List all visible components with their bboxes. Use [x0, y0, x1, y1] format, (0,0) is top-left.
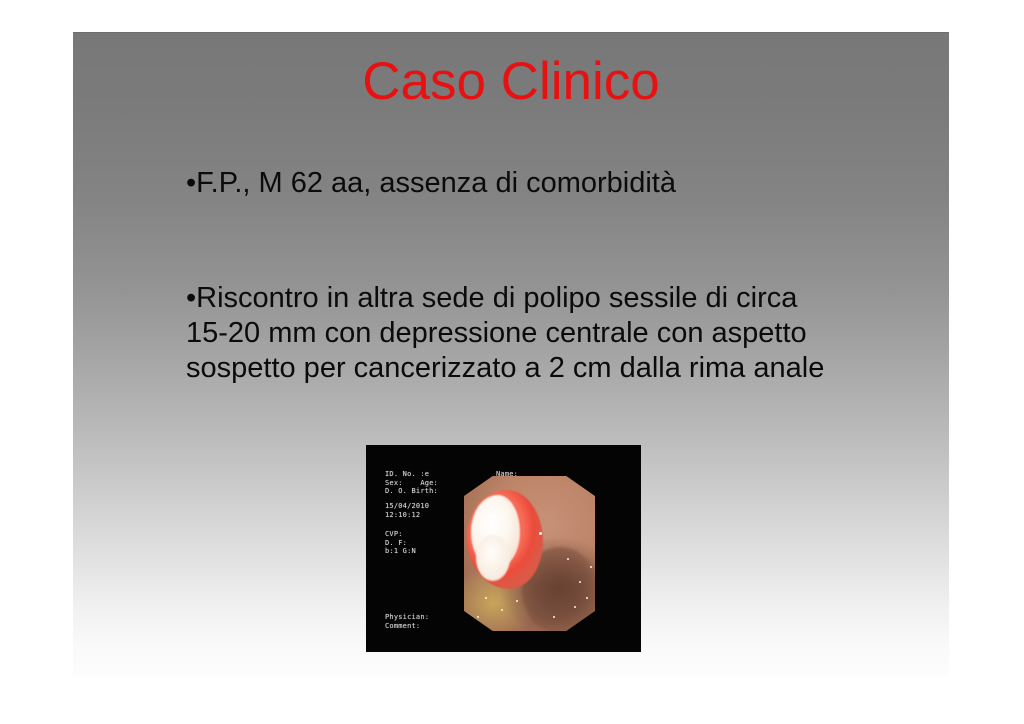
bullet-paragraph-patient: •F.P., M 62 aa, assenza di comorbidità [186, 166, 906, 201]
overlay-cvp: CVP: [385, 530, 403, 538]
specular-highlight [539, 532, 542, 535]
endoscopy-overlay-params: CVP: D. F: b:1 G:N [385, 530, 416, 556]
overlay-bg: b:1 G:N [385, 547, 416, 555]
overlay-comment: Comment: [385, 622, 420, 630]
overlay-id-line: ID. No. :e [385, 470, 429, 478]
endoscopy-overlay-footer: Physician: Comment: [385, 613, 429, 630]
bullet-line: 15-20 mm con depressione centrale con as… [186, 316, 886, 351]
overlay-sex-age-line: Sex: Age: [385, 479, 438, 487]
specular-highlight [501, 609, 503, 611]
specular-highlight [590, 566, 592, 568]
endoscopy-overlay-identification: ID. No. :e Sex: Age: D. O. Birth: [385, 470, 438, 496]
overlay-physician: Physician: [385, 613, 429, 621]
specular-highlight [485, 597, 487, 599]
overlay-time: 12:10:12 [385, 511, 420, 519]
lesion-central-depression [476, 535, 510, 582]
bullet-paragraph-findings: •Riscontro in altra sede di polipo sessi… [186, 281, 886, 385]
endoscopy-image: ID. No. :e Sex: Age: D. O. Birth: Name: … [366, 445, 641, 652]
overlay-dob-line: D. O. Birth: [385, 487, 438, 495]
slide-title: Caso Clinico [73, 54, 949, 110]
presentation-slide: Caso Clinico •F.P., M 62 aa, assenza di … [73, 32, 949, 676]
bullet-line: •F.P., M 62 aa, assenza di comorbidità [186, 166, 906, 201]
specular-highlight [553, 616, 555, 618]
endoscopy-overlay-datetime: 15/04/2010 12:10:12 [385, 502, 429, 519]
endoscopy-viewport [464, 476, 595, 631]
bullet-line: sospetto per cancerizzato a 2 cm dalla r… [186, 351, 886, 386]
overlay-date: 15/04/2010 [385, 502, 429, 510]
overlay-df: D. F: [385, 539, 407, 547]
bullet-line: •Riscontro in altra sede di polipo sessi… [186, 281, 886, 316]
specular-highlight [516, 600, 518, 602]
specular-highlight [586, 597, 588, 599]
specular-highlight [477, 616, 479, 618]
